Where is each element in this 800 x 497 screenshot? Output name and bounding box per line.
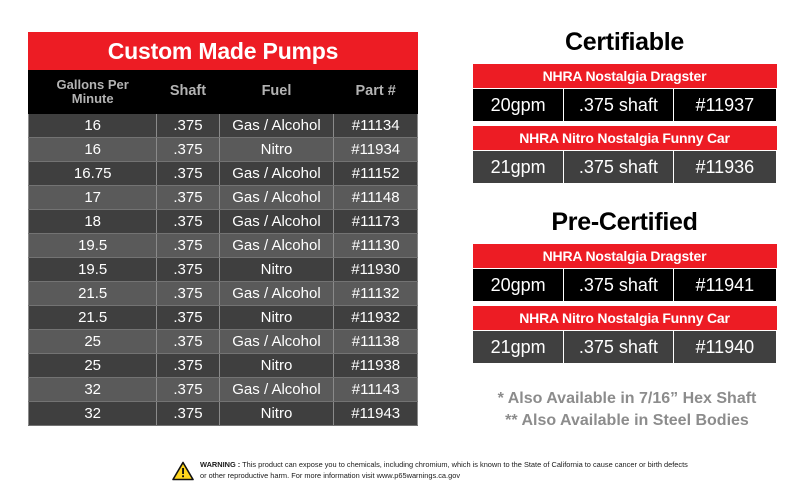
certifiable-panel: Certifiable NHRA Nostalgia Dragster20gpm… bbox=[472, 28, 777, 188]
table-body: 16.375Gas / Alcohol#1113416.375Nitro#119… bbox=[29, 114, 418, 426]
cell-fuel: Gas / Alcohol bbox=[219, 330, 334, 354]
precertified-panel: Pre-Certified NHRA Nostalgia Dragster20g… bbox=[472, 208, 777, 368]
cell-fuel: Gas / Alcohol bbox=[219, 186, 334, 210]
cell-part-number: #11943 bbox=[334, 402, 418, 426]
cell-part-number: #11132 bbox=[334, 282, 418, 306]
cell-part-number: #11934 bbox=[334, 138, 418, 162]
main-table-title: Custom Made Pumps bbox=[28, 32, 418, 70]
certifiable-cell-shaft: .375 shaft bbox=[564, 151, 673, 184]
cell-gallons-per-minute: 32 bbox=[29, 402, 157, 426]
cell-shaft: .375 bbox=[157, 234, 219, 258]
cell-fuel: Nitro bbox=[219, 258, 334, 282]
precertified-spec-row: 21gpm.375 shaft#11940 bbox=[473, 331, 777, 364]
cell-shaft: .375 bbox=[157, 306, 219, 330]
cell-gallons-per-minute: 21.5 bbox=[29, 306, 157, 330]
table-row: 25.375Gas / Alcohol#11138 bbox=[29, 330, 418, 354]
certifiable-group-table: NHRA Nitro Nostalgia Funny Car21gpm.375 … bbox=[472, 126, 777, 184]
cell-gallons-per-minute: 25 bbox=[29, 330, 157, 354]
precertified-cell-part-number: #11940 bbox=[673, 331, 776, 364]
warning-text: WARNING : This product can expose you to… bbox=[200, 460, 692, 481]
cell-gallons-per-minute: 21.5 bbox=[29, 282, 157, 306]
cell-gallons-per-minute: 25 bbox=[29, 354, 157, 378]
cell-shaft: .375 bbox=[157, 282, 219, 306]
cell-part-number: #11152 bbox=[334, 162, 418, 186]
precertified-cell-part-number: #11941 bbox=[673, 269, 776, 302]
precertified-banner-row: NHRA Nostalgia Dragster bbox=[473, 244, 777, 269]
cell-fuel: Nitro bbox=[219, 354, 334, 378]
certifiable-cell-shaft: .375 shaft bbox=[564, 89, 673, 122]
table-row: 16.375Gas / Alcohol#11134 bbox=[29, 114, 418, 138]
cell-shaft: .375 bbox=[157, 402, 219, 426]
cell-shaft: .375 bbox=[157, 114, 219, 138]
cell-fuel: Nitro bbox=[219, 402, 334, 426]
cell-fuel: Gas / Alcohol bbox=[219, 114, 334, 138]
warning-body: This product can expose you to chemicals… bbox=[200, 460, 688, 480]
cell-fuel: Nitro bbox=[219, 138, 334, 162]
precertified-class-banner: NHRA Nostalgia Dragster bbox=[473, 244, 777, 269]
prop65-warning: WARNING : This product can expose you to… bbox=[172, 460, 692, 486]
gpm-header-line1: Gallons Per bbox=[57, 77, 129, 92]
table-row: 16.75.375Gas / Alcohol#11152 bbox=[29, 162, 418, 186]
custom-made-pumps-table: Gallons Per Minute Shaft Fuel Part # 16.… bbox=[28, 70, 418, 426]
cell-shaft: .375 bbox=[157, 330, 219, 354]
certifiable-group-table: NHRA Nostalgia Dragster20gpm.375 shaft#1… bbox=[472, 64, 777, 122]
precertified-group-table: NHRA Nostalgia Dragster20gpm.375 shaft#1… bbox=[472, 244, 777, 302]
cell-shaft: .375 bbox=[157, 378, 219, 402]
cell-gallons-per-minute: 19.5 bbox=[29, 258, 157, 282]
certifiable-heading: Certifiable bbox=[472, 28, 777, 57]
cell-fuel: Gas / Alcohol bbox=[219, 234, 334, 258]
certifiable-banner-row: NHRA Nostalgia Dragster bbox=[473, 64, 777, 89]
column-header-part: Part # bbox=[334, 71, 418, 114]
footnotes: * Also Available in 7/16” Hex Shaft ** A… bbox=[472, 388, 782, 431]
precertified-group-table: NHRA Nitro Nostalgia Funny Car21gpm.375 … bbox=[472, 306, 777, 364]
cell-gallons-per-minute: 17 bbox=[29, 186, 157, 210]
cell-fuel: Gas / Alcohol bbox=[219, 282, 334, 306]
precertified-cell-gpm: 20gpm bbox=[473, 269, 564, 302]
table-header-row: Gallons Per Minute Shaft Fuel Part # bbox=[29, 71, 418, 114]
certifiable-cell-part-number: #11936 bbox=[673, 151, 776, 184]
certifiable-spec-row: 21gpm.375 shaft#11936 bbox=[473, 151, 777, 184]
cell-part-number: #11938 bbox=[334, 354, 418, 378]
table-row: 32.375Nitro#11943 bbox=[29, 402, 418, 426]
precertified-heading: Pre-Certified bbox=[472, 208, 777, 237]
cell-part-number: #11932 bbox=[334, 306, 418, 330]
cell-shaft: .375 bbox=[157, 258, 219, 282]
cell-gallons-per-minute: 16 bbox=[29, 114, 157, 138]
table-row: 25.375Nitro#11938 bbox=[29, 354, 418, 378]
certifiable-class-banner: NHRA Nostalgia Dragster bbox=[473, 64, 777, 89]
cell-part-number: #11148 bbox=[334, 186, 418, 210]
cell-fuel: Gas / Alcohol bbox=[219, 210, 334, 234]
precertified-class-banner: NHRA Nitro Nostalgia Funny Car bbox=[473, 306, 777, 331]
cell-gallons-per-minute: 32 bbox=[29, 378, 157, 402]
cell-gallons-per-minute: 19.5 bbox=[29, 234, 157, 258]
precertified-cell-gpm: 21gpm bbox=[473, 331, 564, 364]
gpm-header-line2: Minute bbox=[72, 91, 114, 106]
column-header-gallons-per-minute: Gallons Per Minute bbox=[29, 71, 157, 114]
cell-shaft: .375 bbox=[157, 138, 219, 162]
certifiable-cell-part-number: #11937 bbox=[673, 89, 776, 122]
precertified-spec-row: 20gpm.375 shaft#11941 bbox=[473, 269, 777, 302]
table-row: 32.375Gas / Alcohol#11143 bbox=[29, 378, 418, 402]
table-row: 17.375Gas / Alcohol#11148 bbox=[29, 186, 418, 210]
cell-gallons-per-minute: 16.75 bbox=[29, 162, 157, 186]
footnote-steel-bodies: ** Also Available in Steel Bodies bbox=[472, 410, 782, 432]
column-header-fuel: Fuel bbox=[219, 71, 334, 114]
warning-label: WARNING : bbox=[200, 460, 240, 469]
custom-made-pumps-panel: Custom Made Pumps Gallons Per Minute Sha… bbox=[28, 32, 418, 426]
cell-gallons-per-minute: 18 bbox=[29, 210, 157, 234]
table-row: 19.5.375Gas / Alcohol#11130 bbox=[29, 234, 418, 258]
cell-gallons-per-minute: 16 bbox=[29, 138, 157, 162]
certifiable-cell-gpm: 21gpm bbox=[473, 151, 564, 184]
cell-part-number: #11130 bbox=[334, 234, 418, 258]
certifiable-class-banner: NHRA Nitro Nostalgia Funny Car bbox=[473, 126, 777, 151]
table-row: 21.5.375Gas / Alcohol#11132 bbox=[29, 282, 418, 306]
precertified-cell-shaft: .375 shaft bbox=[564, 331, 673, 364]
cell-part-number: #11143 bbox=[334, 378, 418, 402]
cell-shaft: .375 bbox=[157, 162, 219, 186]
warning-triangle-icon bbox=[172, 461, 194, 486]
cell-fuel: Nitro bbox=[219, 306, 334, 330]
certifiable-spec-row: 20gpm.375 shaft#11937 bbox=[473, 89, 777, 122]
precertified-cell-shaft: .375 shaft bbox=[564, 269, 673, 302]
column-header-shaft: Shaft bbox=[157, 71, 219, 114]
cell-part-number: #11134 bbox=[334, 114, 418, 138]
certifiable-banner-row: NHRA Nitro Nostalgia Funny Car bbox=[473, 126, 777, 151]
cell-shaft: .375 bbox=[157, 186, 219, 210]
cell-part-number: #11930 bbox=[334, 258, 418, 282]
certifiable-groups: NHRA Nostalgia Dragster20gpm.375 shaft#1… bbox=[472, 64, 777, 184]
table-row: 18.375Gas / Alcohol#11173 bbox=[29, 210, 418, 234]
precertified-groups: NHRA Nostalgia Dragster20gpm.375 shaft#1… bbox=[472, 244, 777, 364]
table-row: 21.5.375Nitro#11932 bbox=[29, 306, 418, 330]
certifiable-cell-gpm: 20gpm bbox=[473, 89, 564, 122]
cell-shaft: .375 bbox=[157, 354, 219, 378]
cell-part-number: #11173 bbox=[334, 210, 418, 234]
cell-fuel: Gas / Alcohol bbox=[219, 378, 334, 402]
footnote-hex-shaft: * Also Available in 7/16” Hex Shaft bbox=[472, 388, 782, 410]
precertified-banner-row: NHRA Nitro Nostalgia Funny Car bbox=[473, 306, 777, 331]
table-row: 19.5.375Nitro#11930 bbox=[29, 258, 418, 282]
cell-part-number: #11138 bbox=[334, 330, 418, 354]
cell-fuel: Gas / Alcohol bbox=[219, 162, 334, 186]
cell-shaft: .375 bbox=[157, 210, 219, 234]
table-row: 16.375Nitro#11934 bbox=[29, 138, 418, 162]
